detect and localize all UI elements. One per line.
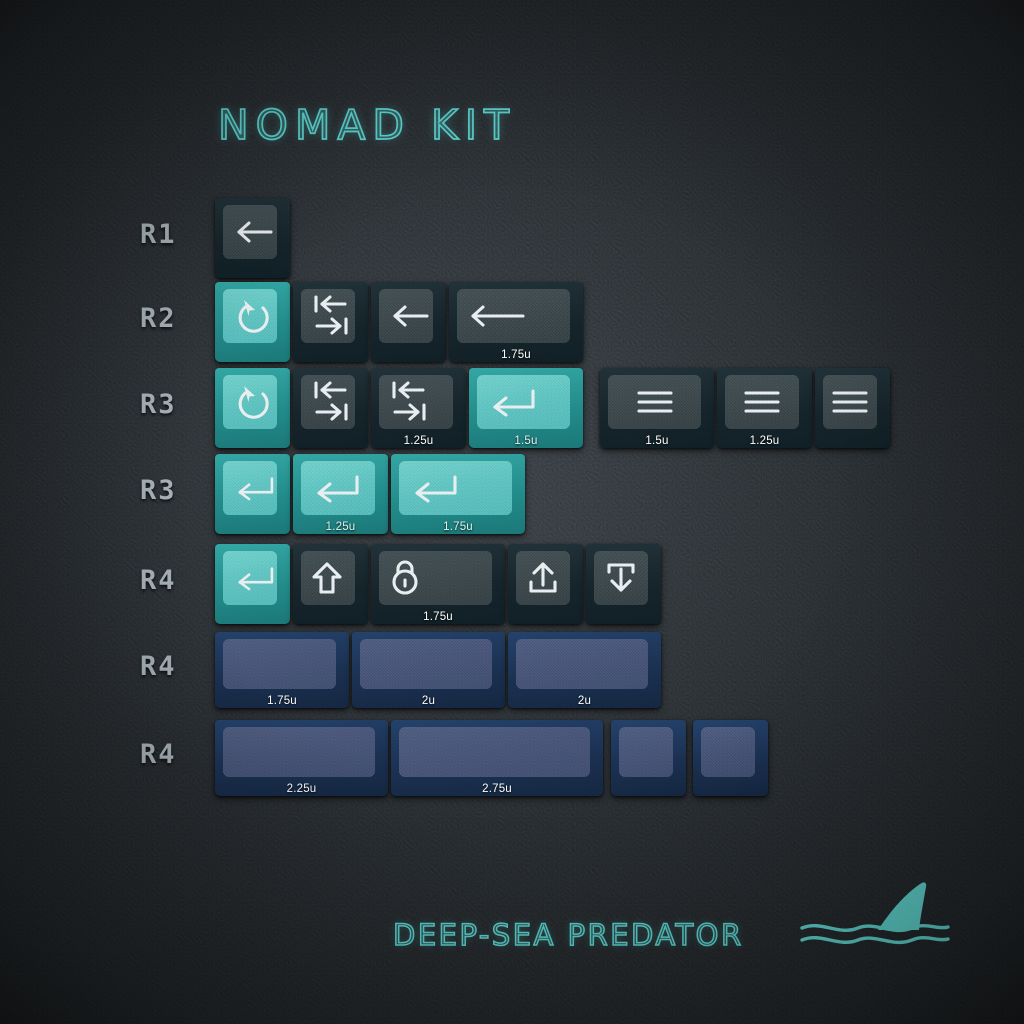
keycap-r4-1u-download[interactable] (586, 544, 661, 624)
keycap-top-face (823, 375, 877, 429)
row-label-r4-6: R4 (140, 739, 200, 770)
keycap-top-face (725, 375, 799, 429)
keycap-r4-1u-blank[interactable] (693, 720, 768, 796)
keycap-size-label: 2.75u (391, 783, 603, 795)
keycap-top-face (301, 289, 355, 343)
keycap-size-label: 1.25u (717, 435, 812, 447)
keycap-r3-1u-menu-lines[interactable] (815, 368, 890, 448)
keycap-top-face (360, 639, 492, 689)
keycap-top-face (477, 375, 570, 429)
keycap-size-label: 1.5u (469, 435, 583, 447)
keycap-size-label: 1.5u (600, 435, 714, 447)
keycap-size-label: 2u (352, 695, 505, 707)
keycap-r4-1u-upload[interactable] (508, 544, 583, 624)
keycap-r4-1u-enter-arrow[interactable] (215, 544, 290, 624)
keycap-r2-1u-refresh-cursor[interactable] (215, 282, 290, 362)
row-label-r4-4: R4 (140, 565, 200, 596)
keycap-r4-1.75u-lock[interactable]: 1.75u (371, 544, 505, 624)
keycap-size-label: 2.25u (215, 783, 388, 795)
keycap-top-face (516, 551, 570, 605)
page-title: NOMAD KIT (218, 101, 516, 149)
keycap-top-face (457, 289, 570, 343)
keycap-top-face (223, 375, 277, 429)
keycap-top-face (223, 639, 336, 689)
keycap-top-face (301, 461, 375, 515)
row-label-r3-2: R3 (140, 389, 200, 420)
keycap-r4-1u-shift-up-arrow[interactable] (293, 544, 368, 624)
keycap-r3-1.25u-tab[interactable]: 1.25u (371, 368, 466, 448)
keycap-r3-1u-tab[interactable] (293, 368, 368, 448)
keycap-top-face (608, 375, 701, 429)
keycap-r3-1u-refresh-cursor[interactable] (215, 368, 290, 448)
keycap-r3-1.25u-enter-arrow[interactable]: 1.25u (293, 454, 388, 534)
keycap-top-face (223, 551, 277, 605)
keycap-r4-2.25u-blank[interactable]: 2.25u (215, 720, 388, 796)
keycap-size-label: 1.75u (391, 521, 525, 533)
keycap-top-face (301, 375, 355, 429)
keycap-top-face (399, 727, 590, 777)
keycap-r4-2.75u-blank[interactable]: 2.75u (391, 720, 603, 796)
keycap-top-face (379, 375, 453, 429)
keycap-top-face (379, 551, 492, 605)
keycap-r4-1.75u-blank[interactable]: 1.75u (215, 632, 349, 708)
keycap-size-label: 1.75u (215, 695, 349, 707)
keycap-r2-1u-backspace-arrow[interactable] (371, 282, 446, 362)
keycap-top-face (619, 727, 673, 777)
keycap-top-face (399, 461, 512, 515)
keycap-r4-1u-blank[interactable] (611, 720, 686, 796)
row-label-r1-0: R1 (140, 219, 200, 250)
keycap-r2-1u-tab[interactable] (293, 282, 368, 362)
shark-fin-waves-icon (800, 878, 950, 963)
keycap-r1-1u-backspace-arrow[interactable] (215, 198, 290, 278)
keycap-size-label: 1.75u (449, 349, 583, 361)
tagline: DEEP-SEA PREDATOR (393, 918, 744, 952)
keycap-r4-2u-blank[interactable]: 2u (508, 632, 661, 708)
keycap-size-label: 1.75u (371, 611, 505, 623)
keycap-top-face (223, 727, 375, 777)
keycap-r3-1u-enter-arrow[interactable] (215, 454, 290, 534)
keycap-top-face (379, 289, 433, 343)
row-label-r2-1: R2 (140, 303, 200, 334)
keycap-r3-1.25u-menu-lines[interactable]: 1.25u (717, 368, 812, 448)
keycap-top-face (223, 205, 277, 259)
keycap-kit-poster: NOMAD KIT R1 R2 1.75uR3 1.25u 1.5u 1.5u … (0, 0, 1024, 1024)
keycap-top-face (223, 289, 277, 343)
keycap-r4-2u-blank[interactable]: 2u (352, 632, 505, 708)
keycap-r3-1.75u-enter-arrow[interactable]: 1.75u (391, 454, 525, 534)
keycap-r3-1.5u-enter-arrow[interactable]: 1.5u (469, 368, 583, 448)
keycap-r3-1.5u-menu-lines[interactable]: 1.5u (600, 368, 714, 448)
keycap-r2-1.75u-backspace-arrow[interactable]: 1.75u (449, 282, 583, 362)
keycap-size-label: 2u (508, 695, 661, 707)
keycap-top-face (594, 551, 648, 605)
keycap-top-face (516, 639, 648, 689)
row-label-r3-3: R3 (140, 475, 200, 506)
keycap-top-face (223, 461, 277, 515)
keycap-top-face (701, 727, 755, 777)
keycap-size-label: 1.25u (371, 435, 466, 447)
row-label-r4-5: R4 (140, 651, 200, 682)
keycap-top-face (301, 551, 355, 605)
keycap-size-label: 1.25u (293, 521, 388, 533)
